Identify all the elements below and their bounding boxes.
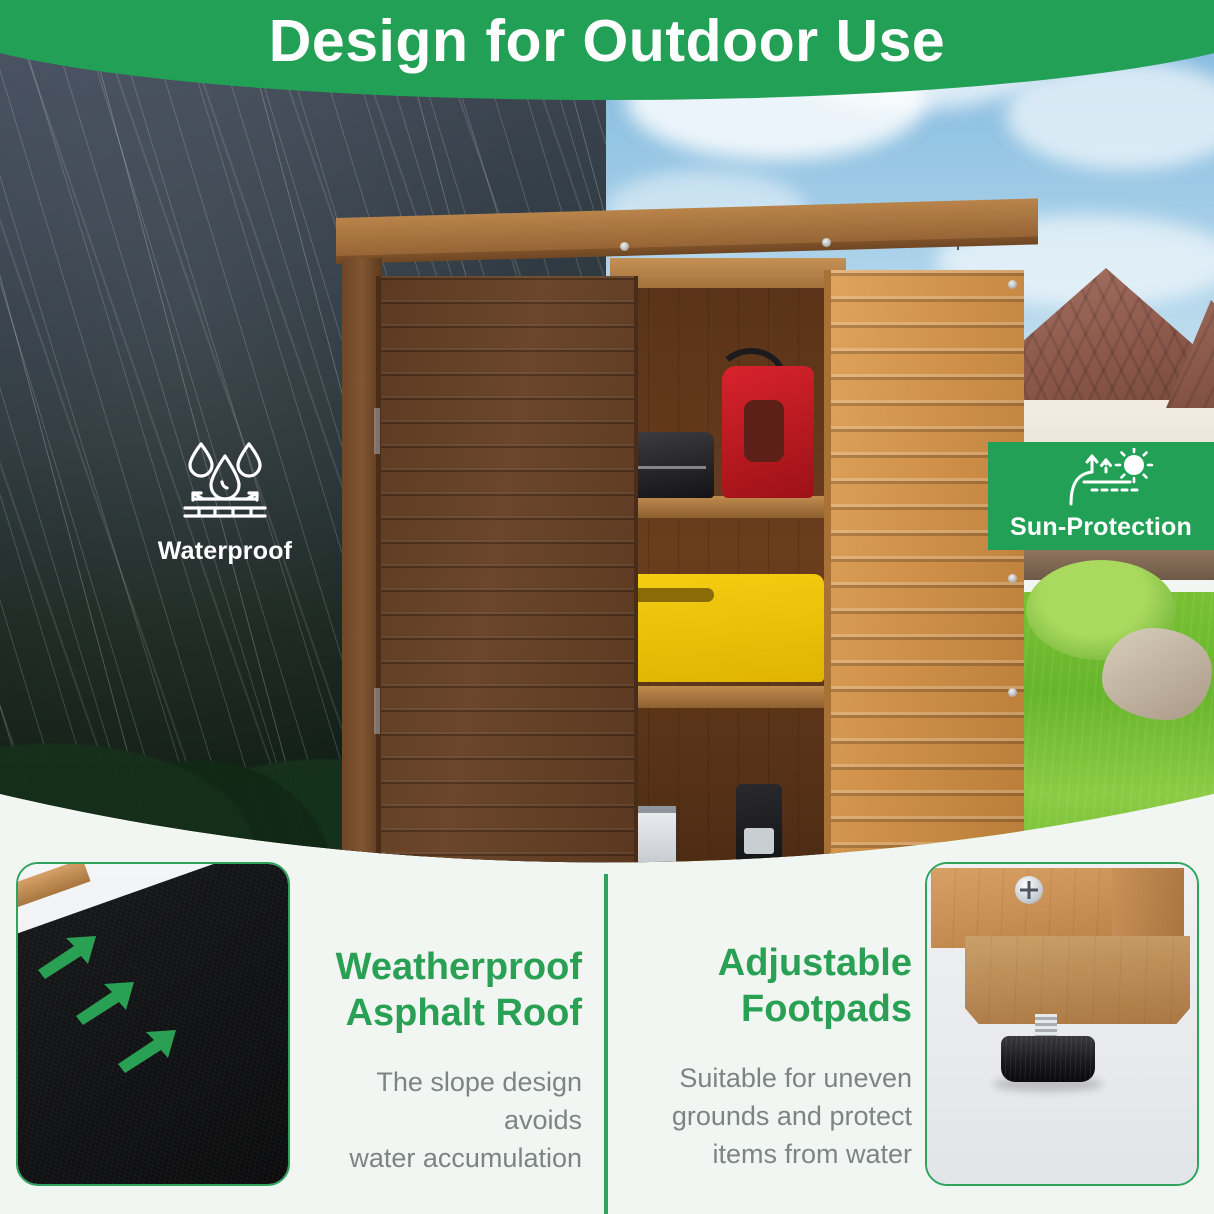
sun-protection-badge: Sun-Protection <box>988 442 1214 550</box>
screw <box>822 238 831 247</box>
slope-arrow-group <box>32 930 252 1110</box>
page-title: Design for Outdoor Use <box>0 12 1214 71</box>
waterproof-badge: Waterproof <box>122 436 328 566</box>
heading-line-1: Adjustable <box>630 940 912 986</box>
shed-shelf <box>618 496 836 518</box>
slope-arrow-icon <box>36 930 102 980</box>
adjustable-footpads-heading: Adjustable Footpads <box>630 940 912 1033</box>
yellow-toolbox <box>620 574 824 682</box>
heading-line-2: Footpads <box>630 986 912 1032</box>
waterproof-icon <box>171 509 279 526</box>
weatherproof-roof-description: The slope design avoids water accumulati… <box>300 1063 582 1178</box>
feature-adjustable-footpads: Adjustable Footpads Suitable for uneven … <box>610 862 1214 1214</box>
door-hinge <box>374 688 380 734</box>
sun-protection-label: Sun-Protection <box>988 513 1214 542</box>
asphalt-roof-photo <box>18 864 288 1184</box>
weatherproof-roof-text: Weatherproof Asphalt Roof The slope desi… <box>300 862 582 1178</box>
description-line-1: The slope design avoids <box>300 1063 582 1140</box>
shed-louvered-side-wall <box>824 270 1024 880</box>
description-line-2: water accumulation <box>300 1139 582 1177</box>
adjustable-footpads-description: Suitable for uneven grounds and protect … <box>630 1059 912 1174</box>
slope-arrow-icon <box>116 1024 182 1074</box>
shed-shelf <box>618 686 836 708</box>
shed-base-beam-lower <box>965 936 1190 1024</box>
asphalt-roof-photo-card <box>16 862 290 1186</box>
footpad-photo-card <box>925 862 1199 1186</box>
footpad-photo <box>927 864 1197 1184</box>
adjustable-footpads-text: Adjustable Footpads Suitable for uneven … <box>630 862 912 1174</box>
screw <box>1008 280 1017 289</box>
shed-base-beam-corner <box>1112 868 1184 944</box>
slope-arrow-icon <box>74 976 140 1026</box>
description-line-3: items from water <box>630 1135 912 1173</box>
waterproof-label: Waterproof <box>122 537 328 566</box>
shed-louvered-door <box>376 276 638 880</box>
heading-line-1: Weatherproof <box>300 944 582 990</box>
screw <box>1008 688 1017 697</box>
feature-row: Weatherproof Asphalt Roof The slope desi… <box>0 862 1214 1214</box>
garden-stone <box>1102 628 1212 720</box>
hero-image: Waterproof <box>0 0 1214 880</box>
weatherproof-roof-heading: Weatherproof Asphalt Roof <box>300 944 582 1037</box>
feature-weatherproof-asphalt-roof: Weatherproof Asphalt Roof The slope desi… <box>0 862 604 1214</box>
red-nail-gun <box>722 366 814 498</box>
screw <box>1008 574 1017 583</box>
sun-protection-icon <box>1038 448 1164 515</box>
door-hinge <box>374 408 380 454</box>
phillips-screw-icon <box>1015 876 1043 904</box>
screw <box>620 242 629 251</box>
product-feature-poster: Waterproof <box>0 0 1214 1214</box>
shed-top-trim <box>610 258 846 288</box>
description-line-2: grounds and protect <box>630 1097 912 1135</box>
heading-line-2: Asphalt Roof <box>300 990 582 1036</box>
description-line-1: Suitable for uneven <box>630 1059 912 1097</box>
feature-divider <box>604 874 608 1214</box>
footpad-shadow <box>993 1076 1103 1092</box>
garden-storage-shed <box>318 218 1038 880</box>
